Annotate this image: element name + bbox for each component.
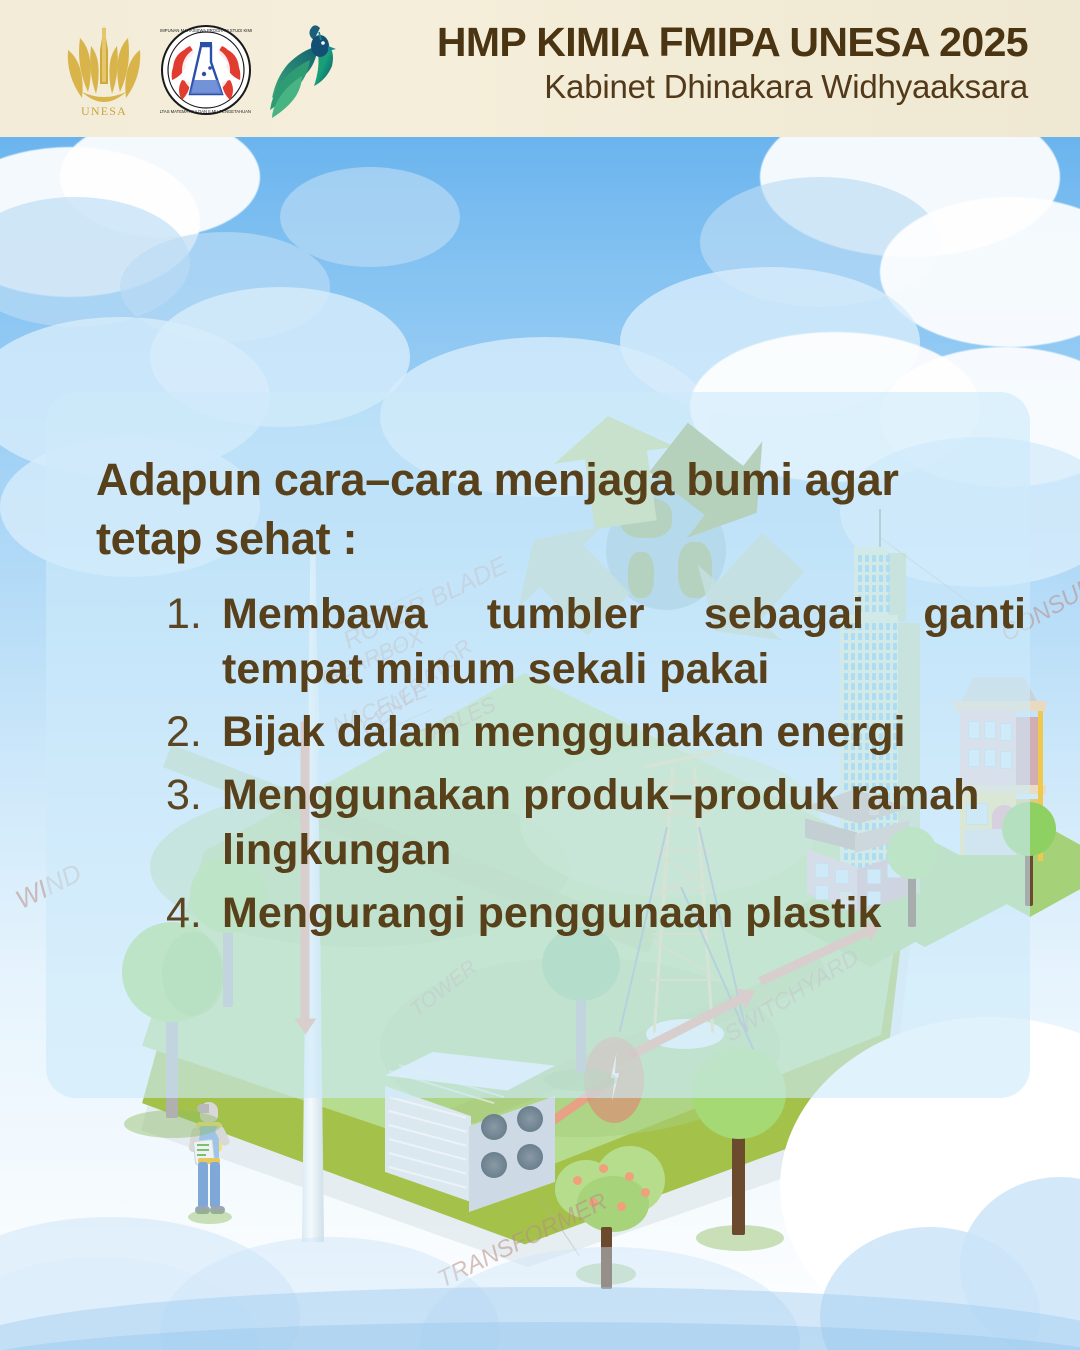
lead-text: Adapun cara–cara menjaga bumi agar tetap… [96,450,1001,569]
list-item-number: 2. [166,705,222,760]
fan-icon [517,1106,543,1132]
list-item: 2. Bijak dalam menggunakan energi [166,705,1026,760]
content-area: Adapun cara–cara menjaga bumi agar tetap… [46,392,1030,1098]
tips-list: 1. Membawa tumbler sebagai ganti tempat … [166,587,1026,949]
header-band: UNESA [0,0,1080,137]
list-item: 3. Menggunakan produk–produk ramah lingk… [166,768,1026,878]
page-title: HMP KIMIA FMIPA UNESA 2025 [437,22,1028,63]
svg-text:HIMPUNAN MAHASISWA PROGRAM STU: HIMPUNAN MAHASISWA PROGRAM STUDI KIMIA [160,28,252,33]
peacock-icon [262,20,342,120]
list-item: 4. Mengurangi penggunaan plastik [166,886,1026,941]
list-item-number: 3. [166,768,222,823]
fan-icon [517,1144,543,1170]
logo-group: UNESA [58,18,342,122]
poster-root: ROTOR BLADE GEARBOX GENERATOR NACELLE CA… [0,0,1080,1350]
list-item-label: Membawa tumbler sebagai ganti tempat min… [222,587,1026,697]
list-item-label: Menggunakan produk–produk ramah lingkung… [222,768,1026,878]
list-item-number: 4. [166,886,222,941]
svg-text:FAKULTAS MATEMATIKA DAN ILMU P: FAKULTAS MATEMATIKA DAN ILMU PENGETAHUAN… [160,109,252,114]
header-titles: HMP KIMIA FMIPA UNESA 2025 Kabinet Dhina… [437,22,1028,103]
list-item-label: Bijak dalam menggunakan energi [222,705,1026,760]
hmp-flask-icon: HIMPUNAN MAHASISWA PROGRAM STUDI KIMIA F… [160,22,252,118]
fan-icon [481,1114,507,1140]
peacock-logo [262,20,342,120]
list-item: 1. Membawa tumbler sebagai ganti tempat … [166,587,1026,697]
page-subtitle: Kabinet Dhinakara Widhyaaksara [437,70,1028,103]
unesa-logo-caption: UNESA [58,104,150,119]
fan-icon [481,1152,507,1178]
list-item-label: Mengurangi penggunaan plastik [222,886,1026,941]
unesa-logo: UNESA [58,20,150,120]
list-item-number: 1. [166,587,222,642]
hmp-kimia-logo: HIMPUNAN MAHASISWA PROGRAM STUDI KIMIA F… [160,22,252,118]
